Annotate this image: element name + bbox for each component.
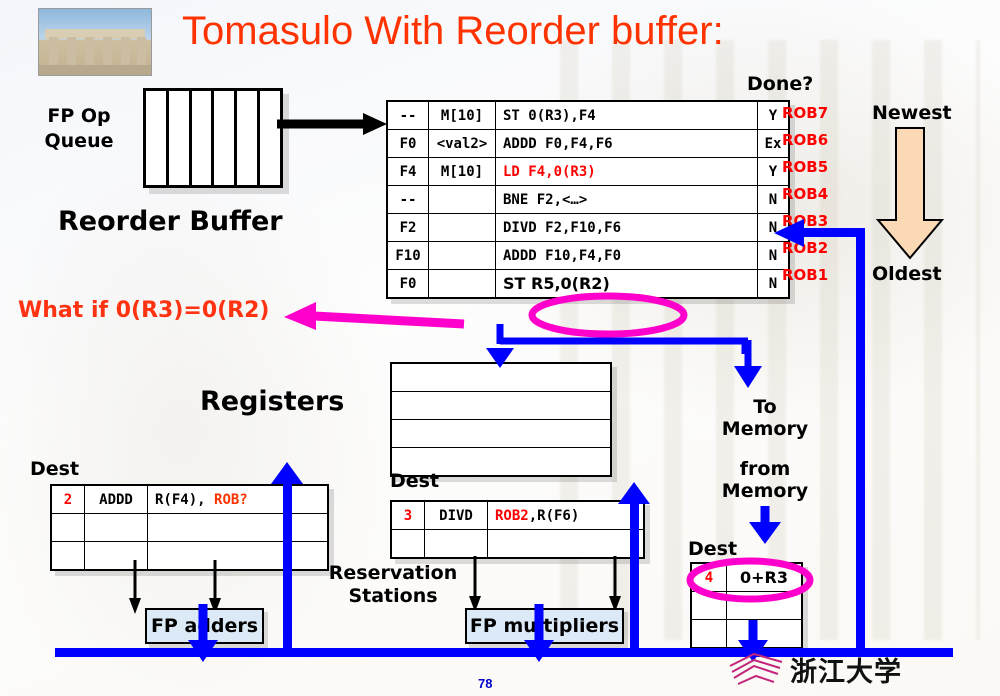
multipliers-rs-dest: 3 <box>391 501 425 530</box>
reservation-stations-line1: Reservation <box>318 562 468 585</box>
registers-cell <box>391 392 611 420</box>
load-buffer-dest-label: Dest <box>688 538 737 560</box>
rob-tag: ROB5 <box>782 154 842 181</box>
cdb-riser-multipliers <box>630 492 639 652</box>
rob-row: F0<val2>ADDD F0,F4,F6Ex <box>387 130 789 158</box>
reorder-buffer-label: Reorder Buffer <box>58 206 283 237</box>
fp-op-queue-label-line2: Queue <box>36 129 122 154</box>
rob-cell-dest: F2 <box>387 214 429 242</box>
from-memory-arrow <box>745 506 785 546</box>
newest-to-oldest-arrow <box>878 128 958 260</box>
rob-cell-value: M[10] <box>429 101 496 130</box>
rob-cell-dest: F0 <box>387 130 429 158</box>
rob-tag: ROB6 <box>782 127 842 154</box>
rob-tag-list: ROB7ROB6ROB5ROB4ROB3ROB2ROB1 <box>782 100 842 289</box>
multipliers-rs-op: DIVD <box>425 501 488 530</box>
page-title: Tomasulo With Reorder buffer: <box>182 8 724 54</box>
fp-op-queue-cell <box>146 91 169 185</box>
fp-op-queue-cell <box>214 91 237 185</box>
adders-rs-dest <box>51 542 85 571</box>
rob-cell-instruction: DIVD F2,F10,F6 <box>496 214 758 242</box>
multipliers-rs-dest <box>391 530 425 559</box>
load-buffer-highlight-ellipse <box>686 558 816 602</box>
queue-to-rob-arrow <box>277 112 389 136</box>
rob-cell-value <box>429 186 496 214</box>
rob-row: F2DIVD F2,F10,F6N <box>387 214 789 242</box>
page-number: 78 <box>478 676 492 691</box>
to-memory-line1: To <box>720 396 810 418</box>
university-logo-mark <box>726 646 786 692</box>
cdb-riser-adders <box>283 472 292 652</box>
cdb-riser-rob <box>856 228 865 652</box>
adders-rs-operands <box>148 514 329 542</box>
fp-multipliers-output-arrow <box>522 638 558 664</box>
rob-cell-instruction: ST 0(R3),F4 <box>496 101 758 130</box>
fp-op-queue-cell <box>237 91 260 185</box>
fp-op-queue-cell <box>192 91 215 185</box>
rob-cell-dest: -- <box>387 186 429 214</box>
multipliers-table-body: 3DIVDROB2,R(F6) <box>391 501 644 558</box>
reservation-stations-line2: Stations <box>318 585 468 608</box>
registers-table <box>390 362 612 477</box>
registers-table-body <box>391 363 611 476</box>
done-header: Done? <box>747 73 813 95</box>
rob-tag: ROB4 <box>782 181 842 208</box>
fp-op-queue <box>143 88 283 188</box>
registers-row <box>391 420 611 448</box>
rob-tag: ROB1 <box>782 262 842 289</box>
registers-cell <box>391 420 611 448</box>
rob-cell-value <box>429 242 496 270</box>
fp-op-queue-label: FP Op Queue <box>36 104 122 154</box>
rob-cell-dest: F0 <box>387 270 429 299</box>
newest-label: Newest <box>872 102 952 124</box>
fp-adders-output-arrow <box>186 638 222 664</box>
fp-op-queue-cell <box>169 91 192 185</box>
cdb-to-rob-branch <box>800 228 860 237</box>
rob-tag: ROB7 <box>782 100 842 127</box>
adders-rs-operands: R(F4), ROB? <box>148 485 329 514</box>
rob-cell-dest: F10 <box>387 242 429 270</box>
university-name: 浙江大学 <box>790 650 902 689</box>
rob-table-body: --M[10]ST 0(R3),F4YF0<val2>ADDD F0,F4,F6… <box>387 101 789 298</box>
rob-cell-instruction: LD F4,0(R3) <box>496 158 758 186</box>
to-memory-line2: Memory <box>720 418 810 440</box>
adders-rs-dest: 2 <box>51 485 85 514</box>
multipliers-rs-operands <box>488 530 645 559</box>
reservation-stations-caption: Reservation Stations <box>318 562 468 608</box>
rob-cell-dest: F4 <box>387 158 429 186</box>
fp-op-queue-label-line1: FP Op <box>36 104 122 129</box>
fp-op-queue-cell <box>260 91 280 185</box>
multipliers-rs-row: 3DIVDROB2,R(F6) <box>391 501 644 530</box>
adders-rs-op: ADDD <box>85 485 148 514</box>
from-memory-line2: Memory <box>720 480 810 502</box>
load-buffer-dest <box>691 620 727 649</box>
adders-rs-op <box>85 514 148 542</box>
multipliers-rs-op <box>425 530 488 559</box>
rob-cell-value <box>429 270 496 299</box>
adders-rs-dest <box>51 514 85 542</box>
rob-cell-instruction: ADDD F0,F4,F6 <box>496 130 758 158</box>
registers-row <box>391 392 611 420</box>
cdb-to-rob-arrow-head <box>772 218 806 248</box>
from-memory-label: from Memory <box>720 458 810 502</box>
rob-cell-instruction: BNE F2,<…> <box>496 186 758 214</box>
oldest-label: Oldest <box>872 263 942 285</box>
rob-row: F10ADDD F10,F4,F0N <box>387 242 789 270</box>
to-memory-label: To Memory <box>720 396 810 440</box>
rob-cell-value: M[10] <box>429 158 496 186</box>
rob-row: --M[10]ST 0(R3),F4Y <box>387 101 789 130</box>
adders-dest-label: Dest <box>30 458 79 480</box>
rob-cell-value <box>429 214 496 242</box>
cdb-riser-adders-head <box>270 462 306 488</box>
fp-multipliers-label: FP multipliers <box>470 615 619 637</box>
multipliers-reservation-station-table: 3DIVDROB2,R(F6) <box>390 500 645 559</box>
rob-cell-value: <val2> <box>429 130 496 158</box>
rob-cell-dest: -- <box>387 101 429 130</box>
rob-cell-instruction: ADDD F10,F4,F0 <box>496 242 758 270</box>
multipliers-dest-label: Dest <box>390 470 439 492</box>
to-memory-arrow <box>728 340 768 390</box>
multipliers-dispatch-arrows <box>460 556 700 614</box>
registers-label: Registers <box>200 386 344 417</box>
rob-row: F4M[10]LD F4,0(R3)Y <box>387 158 789 186</box>
cdb-riser-multipliers-head <box>617 482 653 508</box>
rob-row: --BNE F2,<…>N <box>387 186 789 214</box>
what-if-annotation: What if 0(R3)=0(R2) <box>18 298 270 323</box>
multipliers-rs-row <box>391 530 644 559</box>
from-memory-line1: from <box>720 458 810 480</box>
what-if-arrow <box>268 296 468 332</box>
reorder-buffer-table: --M[10]ST 0(R3),F4YF0<val2>ADDD F0,F4,F6… <box>386 100 790 299</box>
temple-photo <box>38 8 152 76</box>
